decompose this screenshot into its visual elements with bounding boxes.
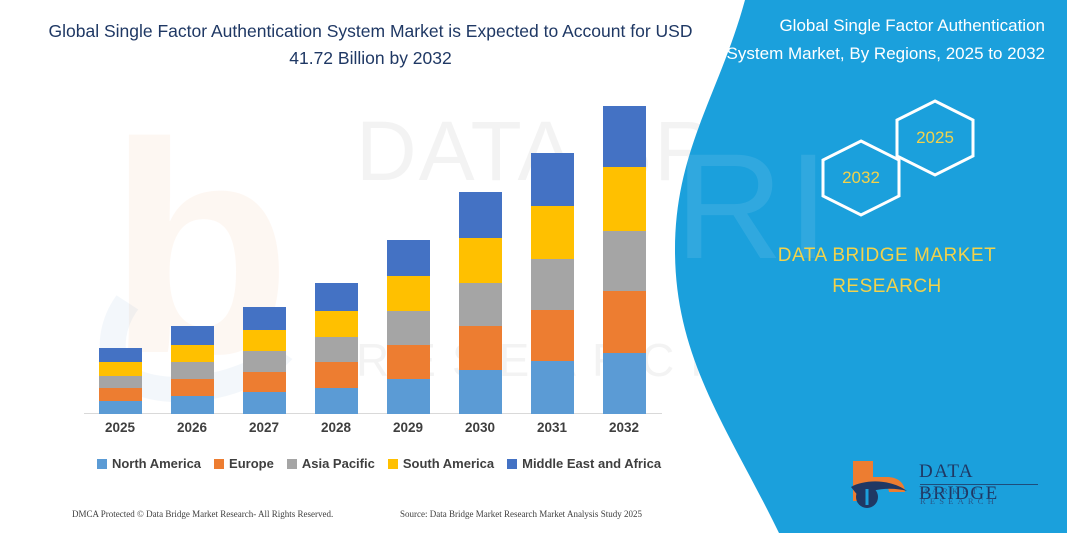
bar-segment[interactable]	[459, 192, 502, 238]
legend-item[interactable]: Europe	[214, 456, 274, 471]
chart-legend: North AmericaEuropeAsia PacificSouth Ame…	[84, 456, 674, 471]
legend-swatch-icon	[97, 459, 107, 469]
logo-divider	[920, 484, 1038, 485]
x-axis-labels: 20252026202720282029203020312032	[84, 420, 660, 435]
legend-item[interactable]: Asia Pacific	[287, 456, 375, 471]
bar-segment[interactable]	[387, 276, 430, 311]
x-axis-tick-label: 2029	[372, 420, 444, 435]
stacked-bar[interactable]	[171, 326, 214, 414]
brand-line-1: DATA BRIDGE MARKET	[727, 240, 1047, 271]
hexagon-group: 2025 2032	[767, 95, 1027, 215]
legend-swatch-icon	[388, 459, 398, 469]
bar-segment[interactable]	[459, 238, 502, 282]
bar-segment[interactable]	[603, 231, 646, 291]
bar-segment[interactable]	[315, 388, 358, 414]
bar-segment[interactable]	[171, 326, 214, 345]
stacked-bar[interactable]	[603, 106, 646, 414]
stacked-bar[interactable]	[459, 192, 502, 414]
page-title: Global Single Factor Authentication Syst…	[48, 18, 693, 72]
bar-segment[interactable]	[387, 311, 430, 345]
legend-label: Europe	[229, 456, 274, 471]
legend-label: Asia Pacific	[302, 456, 375, 471]
x-axis-tick-label: 2030	[444, 420, 516, 435]
x-axis-tick-label: 2025	[84, 420, 156, 435]
bar-segment[interactable]	[459, 370, 502, 414]
bar-segment[interactable]	[171, 379, 214, 397]
brand-name: DATA BRIDGE MARKET RESEARCH	[727, 240, 1047, 302]
legend-label: South America	[403, 456, 494, 471]
company-logo: DATA BRIDGE MARKET RESEARCH	[847, 455, 1047, 513]
stacked-bar[interactable]	[99, 348, 142, 414]
legend-swatch-icon	[214, 459, 224, 469]
stacked-bar[interactable]	[315, 283, 358, 414]
stacked-bar[interactable]	[387, 240, 430, 415]
bar-segment[interactable]	[315, 283, 358, 311]
bar-slot	[444, 104, 516, 414]
bar-segment[interactable]	[243, 372, 286, 393]
infographic-root: b DATA BRIDGE RESEARCH Global Single Fac…	[0, 0, 1067, 533]
bar-segment[interactable]	[531, 310, 574, 362]
hexagon-2032: 2032	[815, 137, 907, 219]
bar-segment[interactable]	[531, 153, 574, 206]
stacked-bar[interactable]	[243, 307, 286, 414]
bar-segment[interactable]	[99, 362, 142, 375]
x-axis-tick-label: 2026	[156, 420, 228, 435]
bar-segment[interactable]	[603, 167, 646, 231]
footer-copyright: DMCA Protected © Data Bridge Market Rese…	[72, 509, 333, 519]
bar-segment[interactable]	[387, 240, 430, 276]
bar-segment[interactable]	[603, 106, 646, 167]
bar-slot	[516, 104, 588, 414]
bar-segment[interactable]	[387, 379, 430, 414]
bar-segment[interactable]	[603, 291, 646, 353]
legend-swatch-icon	[507, 459, 517, 469]
bar-slot	[84, 104, 156, 414]
bar-segment[interactable]	[387, 345, 430, 379]
bar-segment[interactable]	[243, 330, 286, 352]
hexagon-2025-label: 2025	[916, 128, 954, 148]
bar-segment[interactable]	[171, 396, 214, 414]
bar-slot	[588, 104, 660, 414]
bar-segment[interactable]	[603, 353, 646, 414]
bar-slot	[228, 104, 300, 414]
bar-segment[interactable]	[243, 392, 286, 414]
bar-slot	[156, 104, 228, 414]
legend-label: North America	[112, 456, 201, 471]
legend-label: Middle East and Africa	[522, 456, 661, 471]
bar-segment[interactable]	[531, 206, 574, 259]
bar-slot	[300, 104, 372, 414]
bar-segment[interactable]	[459, 283, 502, 326]
bar-segment[interactable]	[99, 348, 142, 362]
x-axis-tick-label: 2028	[300, 420, 372, 435]
branding-panel: RI Global Single Factor Authentication S…	[667, 0, 1067, 533]
bar-segment[interactable]	[459, 326, 502, 370]
panel-title: Global Single Factor Authentication Syst…	[725, 12, 1045, 68]
bar-segment[interactable]	[243, 307, 286, 330]
bar-slot	[372, 104, 444, 414]
bar-segment[interactable]	[531, 361, 574, 414]
bar-segment[interactable]	[99, 388, 142, 401]
bar-segment[interactable]	[99, 401, 142, 414]
x-axis-tick-label: 2032	[588, 420, 660, 435]
footer-source: Source: Data Bridge Market Research Mark…	[400, 509, 642, 519]
hexagon-2032-label: 2032	[842, 168, 880, 188]
x-axis-tick-label: 2031	[516, 420, 588, 435]
bar-segment[interactable]	[99, 376, 142, 388]
x-axis-tick-label: 2027	[228, 420, 300, 435]
bar-segment[interactable]	[315, 362, 358, 388]
chart-pane: Global Single Factor Authentication Syst…	[0, 0, 735, 533]
legend-item[interactable]: Middle East and Africa	[507, 456, 661, 471]
bar-segment[interactable]	[243, 351, 286, 371]
bar-segment[interactable]	[531, 259, 574, 310]
logo-tagline: MARKET RESEARCH	[920, 486, 1047, 506]
data-bridge-logo-icon	[847, 457, 913, 509]
bar-segment[interactable]	[315, 337, 358, 362]
legend-item[interactable]: North America	[97, 456, 201, 471]
stacked-bar-group	[84, 104, 660, 414]
bar-segment[interactable]	[171, 345, 214, 363]
brand-line-2: RESEARCH	[727, 271, 1047, 302]
legend-swatch-icon	[287, 459, 297, 469]
legend-item[interactable]: South America	[388, 456, 494, 471]
bar-segment[interactable]	[171, 362, 214, 379]
stacked-bar[interactable]	[531, 153, 574, 414]
bar-segment[interactable]	[315, 311, 358, 337]
